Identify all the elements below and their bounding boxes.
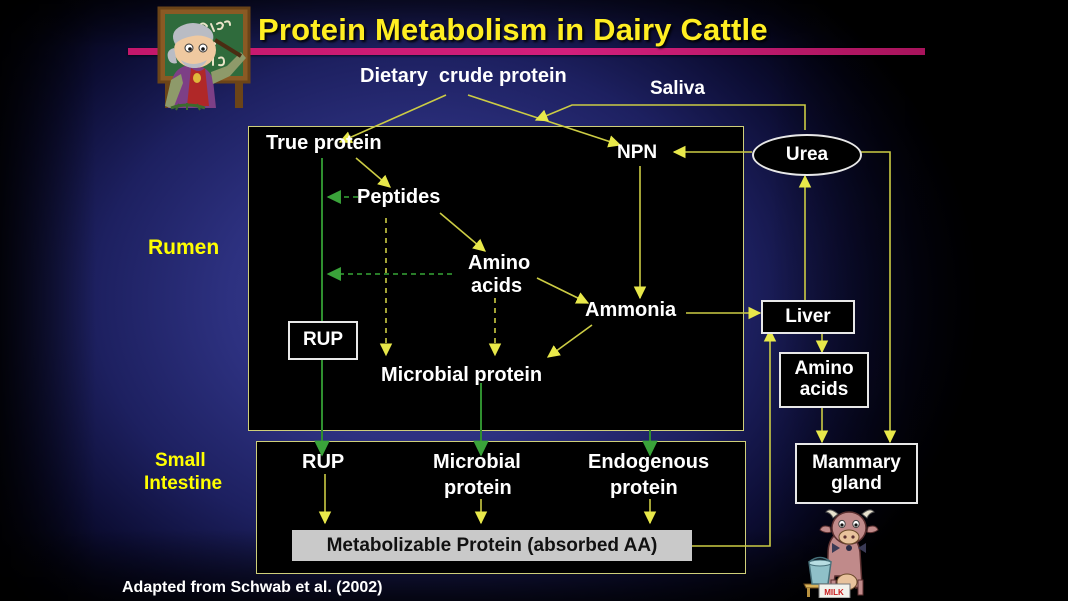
node-microbial-protein-rumen: Microbial protein — [381, 365, 542, 386]
node-liver-label: Liver — [785, 307, 830, 328]
node-metabolizable-protein-label: Metabolizable Protein (absorbed AA) — [327, 535, 658, 557]
node-amino-acids-body: Amino acids — [779, 352, 869, 408]
node-amino-acids-rumen-line1: Amino — [468, 253, 530, 274]
node-metabolizable-protein: Metabolizable Protein (absorbed AA) — [292, 530, 692, 561]
node-peptides: Peptides — [357, 187, 440, 208]
node-amino-acids-body-line2: acids — [800, 380, 849, 401]
cow-with-milk-bucket-icon: MILK — [800, 500, 896, 598]
node-amino-acids-rumen-line2: acids — [471, 276, 522, 297]
node-rup-small-intestine: RUP — [302, 452, 344, 473]
node-saliva: Saliva — [650, 79, 705, 99]
footer-citation: Adapted from Schwab et al. (2002) — [122, 580, 383, 597]
node-urea: Urea — [752, 134, 862, 176]
node-amino-acids-body-line1: Amino — [794, 359, 853, 380]
node-microbial-protein-si-line2: protein — [444, 478, 512, 499]
node-rup-rumen-label: RUP — [303, 330, 343, 351]
node-endogenous-protein-line2: protein — [610, 478, 678, 499]
node-microbial-protein-si-line1: Microbial — [433, 452, 521, 473]
node-liver: Liver — [761, 300, 855, 334]
slide-canvas: Protein Metabolism in Dairy Cattle — [0, 0, 1068, 601]
node-npn: NPN — [617, 143, 657, 163]
node-mammary-gland-line2: gland — [831, 474, 882, 495]
flow-arrows-layer — [0, 0, 1068, 601]
node-rup-rumen: RUP — [288, 321, 358, 360]
node-mammary-gland-line1: Mammary — [812, 453, 901, 474]
node-true-protein: True protein — [266, 133, 382, 154]
node-dietary-crude-protein: Dietary crude protein — [360, 66, 567, 87]
node-urea-label: Urea — [786, 144, 828, 166]
node-ammonia: Ammonia — [585, 300, 676, 321]
node-mammary-gland: Mammary gland — [795, 443, 918, 504]
node-endogenous-protein-line1: Endogenous — [588, 452, 709, 473]
svg-text:MILK: MILK — [824, 588, 844, 597]
